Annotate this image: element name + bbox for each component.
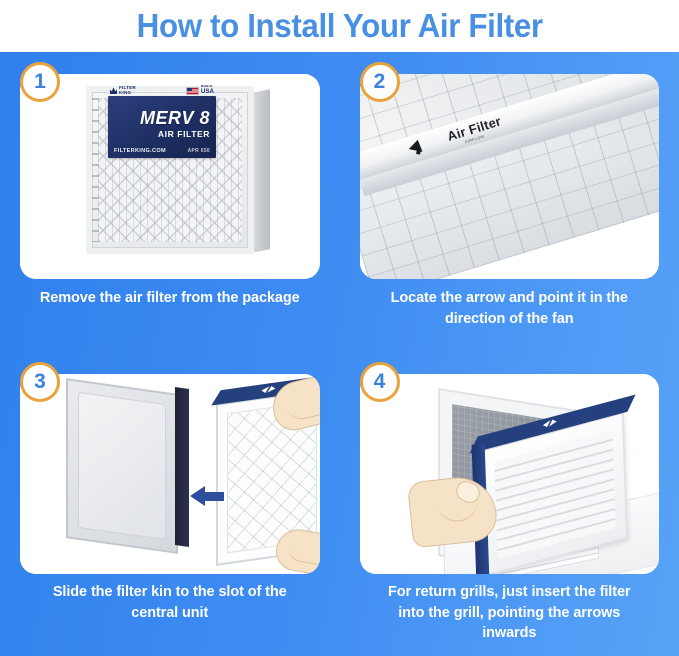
arrow-shaft (203, 492, 224, 501)
crown-icon (110, 87, 117, 94)
page-title: How to Install Your Air Filter (136, 7, 542, 45)
step-panel-1: FILTER KING MADE IN USA (0, 52, 340, 352)
made-in-usa-text: MADE IN USA (201, 86, 214, 95)
step-badge-4: 4 (360, 362, 400, 402)
air-filter-box: FILTER KING MADE IN USA (86, 86, 254, 254)
caption-line: For return grills, just insert the filte… (350, 582, 670, 603)
caption-line: Slide the filter kin to the slot of the (10, 582, 330, 603)
apr-rating: APR 650 (188, 148, 210, 154)
usa-flag-icon (186, 87, 199, 95)
label-header-row: FILTER KING MADE IN USA (108, 85, 216, 96)
step-panel-2: Air Filter AIRFLOW 2 Locate the arrow an… (340, 52, 679, 352)
step-panel-4: 4 For return grills, just insert the fil… (340, 352, 679, 656)
brand-name: FILTER KING (119, 86, 136, 96)
direction-arrow-icon (190, 486, 224, 506)
label-footer-row: FILTERKING.COM APR 650 (114, 148, 210, 154)
step-badge-1: 1 (20, 62, 60, 102)
central-unit-panel (78, 392, 166, 540)
central-unit-slot (175, 387, 189, 547)
step-panel-3: 3 Slide the filter kin to the slot of th… (0, 352, 340, 656)
step-2-image-card: Air Filter AIRFLOW (360, 74, 660, 279)
merv-rating: MERV 8 (108, 108, 210, 129)
grill-louvers (494, 431, 615, 559)
caption-line: Locate the arrow and point it in the (350, 288, 670, 309)
filter-king-logo: FILTER KING (110, 86, 136, 96)
header-band: How to Install Your Air Filter (0, 0, 679, 52)
step-3-image-card (20, 374, 320, 574)
central-unit-body (66, 378, 178, 554)
caption-line: inwards (350, 623, 670, 644)
arrow-tail (416, 148, 421, 155)
brand-line-2: KING (119, 90, 131, 95)
step-1-image-card: FILTER KING MADE IN USA (20, 74, 320, 279)
filter-product-label: FILTER KING MADE IN USA (108, 96, 216, 158)
caption-line: into the grill, pointing the arrows (350, 603, 670, 624)
step-caption-4: For return grills, just insert the filte… (350, 582, 670, 644)
return-grill-illustration (360, 374, 660, 574)
caption-line: direction of the fan (350, 309, 670, 330)
filter-box-side (252, 89, 270, 252)
merv-subtitle: AIR FILTER (108, 129, 210, 139)
infographic-root: How to Install Your Air Filter (0, 0, 679, 656)
step-caption-2: Locate the arrow and point it in the dir… (350, 288, 670, 329)
step-caption-1: Remove the air filter from the package (10, 288, 330, 309)
website-text: FILTERKING.COM (114, 148, 166, 154)
caption-line: central unit (10, 603, 330, 624)
filter-frame-ticks (92, 98, 99, 242)
filter-product-photo: FILTER KING MADE IN USA (20, 74, 320, 279)
filter-arrow-photo: Air Filter AIRFLOW (360, 74, 660, 279)
steps-grid: FILTER KING MADE IN USA (0, 52, 679, 656)
arrow-head (190, 486, 205, 506)
slide-filter-illustration (20, 374, 320, 574)
country-label: USA (201, 89, 214, 95)
step-4-image-card (360, 374, 660, 574)
step-badge-3: 3 (20, 362, 60, 402)
caption-line: Remove the air filter from the package (10, 288, 330, 309)
step-badge-2: 2 (360, 62, 400, 102)
made-in-usa-badge: MADE IN USA (186, 86, 214, 95)
step-caption-3: Slide the filter kin to the slot of the … (10, 582, 330, 623)
